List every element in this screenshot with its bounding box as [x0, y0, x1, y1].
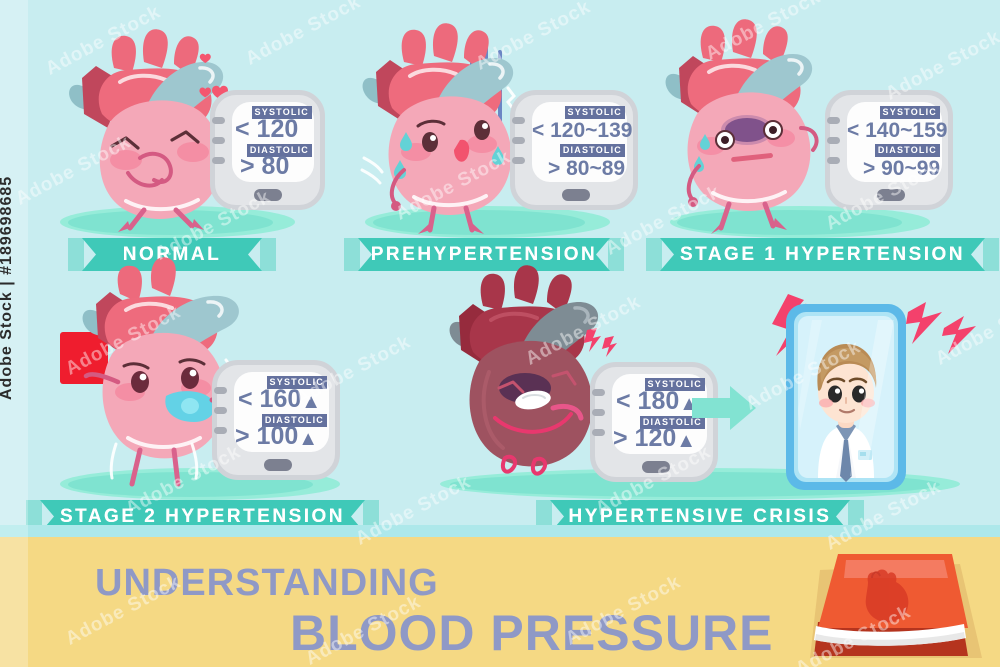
systolic-value: < 180▲ — [616, 389, 699, 417]
systolic-value: < 120 — [235, 117, 298, 142]
diastolic-value: > 80~89 — [548, 156, 625, 181]
monitor-side-button[interactable] — [214, 427, 227, 434]
bp-monitor-prehypertension: SYSTOLIC < 120~139 DIASTOLIC > 80~89 — [510, 90, 638, 210]
monitor-screen: SYSTOLIC < 160▲ DIASTOLIC > 100▲ — [234, 372, 329, 452]
diastolic-value: > 80 — [240, 154, 289, 179]
infographic-canvas: Adobe Stock Adobe Stock Adobe Stock Adob… — [0, 0, 1000, 667]
monitor-screen: SYSTOLIC < 120 DIASTOLIC > 80 — [232, 102, 314, 182]
ribbon-prehypertension-wrap: PREHYPERTENSION — [358, 238, 610, 271]
panel-hypertensive-crisis: SYSTOLIC < 180▲ DIASTOLIC > 120▲ — [430, 272, 990, 530]
systolic-value: < 160▲ — [238, 387, 321, 415]
ribbon-tail-left — [646, 238, 662, 271]
heart-book-illustration — [810, 544, 990, 664]
monitor-power-button[interactable] — [562, 189, 590, 201]
title-line-1: UNDERSTANDING — [95, 562, 439, 605]
diastolic-up-arrow-icon: ▲ — [298, 428, 318, 450]
monitor-power-button[interactable] — [877, 189, 905, 201]
ribbon-label-stage-1: STAGE 1 HYPERTENSION — [660, 238, 985, 271]
monitor-side-button[interactable] — [827, 157, 840, 164]
footer-banner: UNDERSTANDING BLOOD PRESSURE — [0, 536, 1000, 667]
ribbon-label-prehypertension: PREHYPERTENSION — [358, 238, 610, 271]
panel-prehypertension: SYSTOLIC < 120~139 DIASTOLIC > 80~89 PRE… — [340, 10, 650, 260]
monitor-screen: SYSTOLIC < 140~159 DIASTOLIC > 90~99 — [847, 102, 942, 182]
systolic-value: < 120~139 — [532, 118, 632, 143]
monitor-side-button[interactable] — [214, 407, 227, 414]
ribbon-tail-right — [260, 238, 276, 271]
footer-top-strip — [0, 525, 1000, 537]
diastolic-text: > 100 — [235, 422, 298, 450]
diastolic-up-arrow-icon: ▲ — [676, 430, 696, 452]
lightning-right-icon — [900, 294, 980, 364]
monitor-screen: SYSTOLIC < 120~139 DIASTOLIC > 80~89 — [532, 102, 627, 182]
ribbon-tail-left — [68, 238, 84, 271]
systolic-value: < 140~159 — [847, 118, 947, 143]
panel-stage-2-hypertension: SYSTOLIC < 160▲ DIASTOLIC > 100▲ STAGE 2… — [20, 272, 400, 530]
monitor-power-button[interactable] — [642, 461, 670, 473]
monitor-side-button[interactable] — [827, 117, 840, 124]
diastolic-value: > 120▲ — [613, 426, 696, 454]
monitor-side-button[interactable] — [214, 387, 227, 394]
diastolic-value: > 100▲ — [235, 424, 318, 452]
systolic-text: < 180 — [616, 387, 679, 415]
monitor-side-button[interactable] — [827, 137, 840, 144]
systolic-up-arrow-icon: ▲ — [301, 391, 321, 413]
systolic-text: < 160 — [238, 385, 301, 413]
ribbon-stage-1-wrap: STAGE 1 HYPERTENSION — [660, 238, 985, 271]
ribbon-tail-right — [608, 238, 624, 271]
monitor-side-button[interactable] — [512, 117, 525, 124]
monitor-side-button[interactable] — [592, 409, 605, 416]
monitor-power-button[interactable] — [264, 459, 292, 471]
title-line-2: BLOOD PRESSURE — [290, 604, 774, 662]
bp-monitor-stage-1: SYSTOLIC < 140~159 DIASTOLIC > 90~99 — [825, 90, 953, 210]
monitor-side-button[interactable] — [592, 389, 605, 396]
bp-monitor-stage-2: SYSTOLIC < 160▲ DIASTOLIC > 100▲ — [212, 360, 340, 480]
monitor-side-button[interactable] — [212, 137, 225, 144]
monitor-side-button[interactable] — [212, 117, 225, 124]
ribbon-tail-right — [983, 238, 999, 271]
monitor-side-button[interactable] — [592, 429, 605, 436]
panel-stage-1-hypertension: SYSTOLIC < 140~159 DIASTOLIC > 90~99 STA… — [655, 10, 1000, 260]
monitor-side-button[interactable] — [512, 137, 525, 144]
ribbon-tail-left — [344, 238, 360, 271]
panel-normal: SYSTOLIC < 120 DIASTOLIC > 80 NORMAL — [30, 10, 330, 260]
arrow-right-icon — [692, 384, 758, 432]
monitor-side-button[interactable] — [512, 157, 525, 164]
diastolic-value: > 90~99 — [863, 156, 940, 181]
monitor-side-button[interactable] — [212, 157, 225, 164]
diastolic-text: > 120 — [613, 424, 676, 452]
monitor-power-button[interactable] — [254, 189, 282, 201]
phone-with-doctor[interactable] — [782, 300, 912, 500]
watermark-id-text: Adobe Stock | #189698685 — [0, 140, 16, 400]
bp-monitor-normal: SYSTOLIC < 120 DIASTOLIC > 80 — [210, 90, 325, 210]
